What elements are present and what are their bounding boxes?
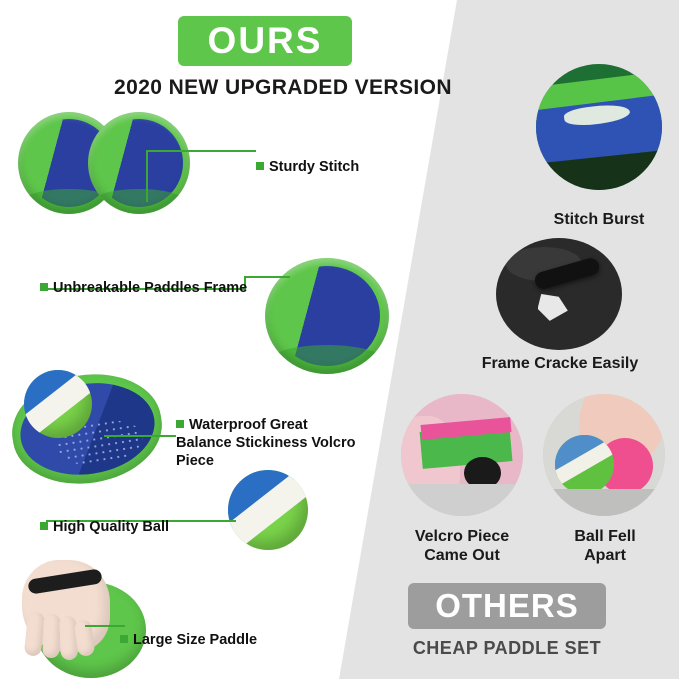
photo-velcro-came-out-image — [401, 394, 523, 516]
bullet-icon — [40, 283, 48, 291]
label-large-size-paddle-text: Large Size Paddle — [133, 632, 257, 648]
leader-line-velcro-h — [104, 435, 176, 437]
label-frame-cracke: Frame Cracke Easily — [454, 354, 666, 373]
label-waterproof-velcro-text: Waterproof Great Balance Stickiness Volc… — [176, 417, 355, 469]
label-high-quality-ball-text: High Quality Ball — [53, 519, 169, 535]
label-stitch-burst: Stitch Burst — [524, 210, 674, 229]
photo-frame-crack — [496, 238, 622, 350]
leader-line-frame-h2 — [244, 276, 290, 278]
ours-banner: OURS — [178, 16, 352, 66]
ours-subtitle: 2020 NEW UPGRADED VERSION — [108, 76, 458, 100]
high-quality-ball-image — [228, 470, 308, 550]
photo-stitch-burst-image — [536, 64, 662, 190]
comparison-infographic: OURS 2020 NEW UPGRADED VERSION — [0, 0, 679, 679]
paddle-rim — [88, 112, 190, 214]
photo-ball-fell-apart — [543, 394, 665, 516]
label-large-size-paddle: Large Size Paddle — [120, 613, 257, 649]
label-unbreakable-frame: Unbreakable Paddles Frame — [40, 261, 247, 297]
others-subtitle: CHEAP PADDLE SET — [388, 638, 626, 659]
ours-banner-label: OURS — [208, 20, 323, 62]
bullet-icon — [120, 635, 128, 643]
others-banner-label: OTHERS — [435, 587, 579, 625]
photo-velcro-came-out — [401, 394, 523, 516]
photo-frame-crack-image — [496, 238, 622, 350]
leader-line-paddle-h — [85, 625, 125, 627]
photo-ball-fell-apart-image — [543, 394, 665, 516]
label-high-quality-ball: High Quality Ball — [40, 500, 169, 536]
leader-line-sturdy-stitch-v — [146, 150, 148, 202]
label-sturdy-stitch: Sturdy Stitch — [256, 140, 359, 176]
bullet-icon — [256, 162, 264, 170]
label-ball-fell-apart: Ball Fell Apart — [545, 527, 665, 565]
leader-line-sturdy-stitch-h — [146, 150, 256, 152]
fingers — [26, 612, 92, 662]
label-velcro-came-out: Velcro Piece Came Out — [392, 527, 532, 565]
photo-stitch-burst — [536, 64, 662, 190]
paddle-top-left-front — [88, 112, 190, 214]
ball-on-velcro — [24, 370, 92, 438]
label-waterproof-velcro: Waterproof Great Balance Stickiness Volc… — [176, 398, 376, 471]
label-sturdy-stitch-text: Sturdy Stitch — [269, 159, 359, 175]
label-unbreakable-frame-text: Unbreakable Paddles Frame — [53, 280, 247, 296]
bullet-icon — [40, 522, 48, 530]
bullet-icon — [176, 420, 184, 428]
others-banner: OTHERS — [408, 583, 606, 629]
